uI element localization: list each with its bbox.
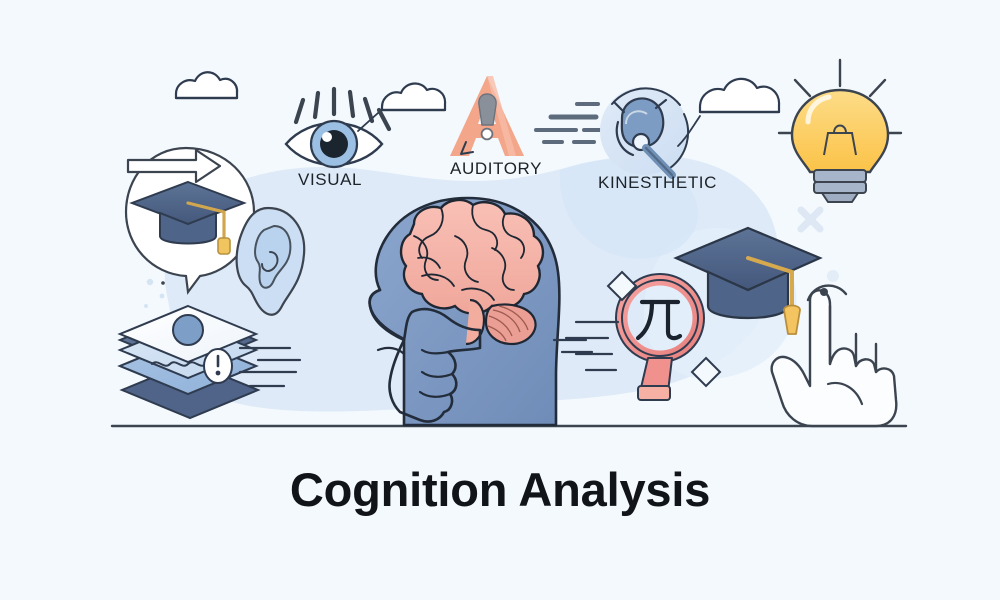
modality-label-auditory: AUDITORY: [450, 159, 542, 179]
modality-label-kinesthetic: KINESTHETIC: [598, 173, 717, 193]
hand-magnifier-icon: [600, 87, 688, 175]
modality-label-visual: VISUAL: [298, 170, 362, 190]
cognition-illustration: [0, 0, 1000, 600]
illustration-canvas: VISUAL AUDITORY KINESTHETIC Cognition An…: [0, 0, 1000, 600]
